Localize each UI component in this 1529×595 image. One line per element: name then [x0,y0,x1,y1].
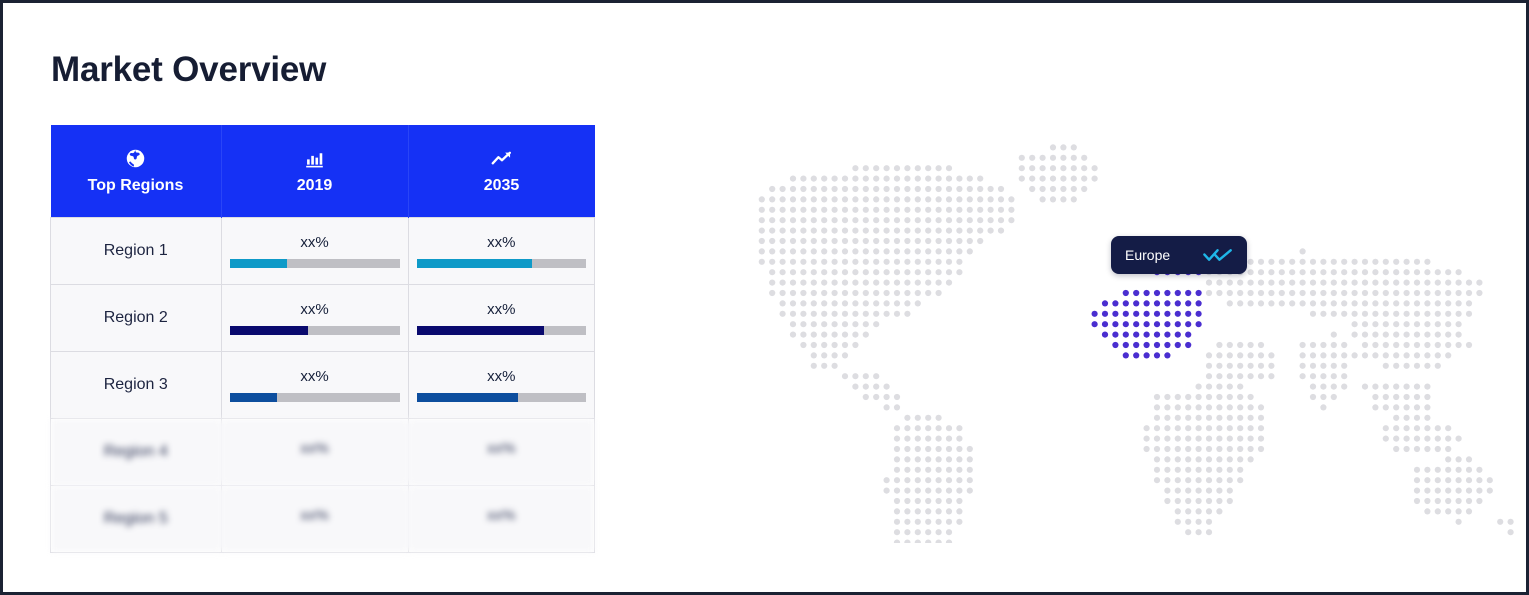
map-dot [1383,259,1389,265]
map-dot [842,332,848,338]
column-header-2035[interactable]: 2035 [408,125,595,218]
map-dot [884,217,890,223]
map-dot [1372,280,1378,286]
map-dot [925,456,931,462]
map-dot [925,248,931,254]
map-dot [1320,394,1326,400]
map-dot [1414,332,1420,338]
map-dot [1424,508,1430,514]
map-dot [1393,332,1399,338]
map-dot [1227,488,1233,494]
map-dot [1404,321,1410,327]
map-dot [1248,259,1254,265]
map-dot [904,498,910,504]
map-dot [936,467,942,473]
map-dot [1456,311,1462,317]
map-dot [873,300,879,306]
map-dot [1362,384,1368,390]
map-dot-active [1196,300,1202,306]
map-dot [904,280,910,286]
map-dot [1341,290,1347,296]
map-dot [1300,248,1306,254]
map-dot [1206,394,1212,400]
map-dot [811,186,817,192]
map-dot [832,207,838,213]
metric-value: xx% [230,301,400,318]
table-row[interactable]: Region 3xx%xx% [51,352,595,419]
map-dot [915,186,921,192]
map-dot [1456,477,1462,483]
progress-bar-track [417,259,587,268]
metric-wrapper: xx% [222,234,408,268]
map-dot [1019,155,1025,161]
map-dot [925,498,931,504]
map-dot [915,529,921,535]
map-dot-active [1175,300,1181,306]
map-dot [936,436,942,442]
map-dot [915,436,921,442]
map-dot [1445,436,1451,442]
map-dot [1414,488,1420,494]
map-dot [1341,342,1347,348]
map-dot [1331,373,1337,379]
map-dot [852,311,858,317]
map-dot [842,352,848,358]
map-dot [873,165,879,171]
map-dot [1404,394,1410,400]
map-dot [1362,342,1368,348]
map-dot [780,280,786,286]
map-dot [1029,176,1035,182]
map-dot [873,259,879,265]
map-dot [790,217,796,223]
map-dot [769,280,775,286]
map-dot [1383,269,1389,275]
map-dot [1445,477,1451,483]
map-dot [1362,321,1368,327]
map-dot [946,186,952,192]
map-dot-active [1112,342,1118,348]
map-dot [1383,342,1389,348]
map-dot [842,248,848,254]
map-dot [946,519,952,525]
map-dot [1310,269,1316,275]
map-dot [769,228,775,234]
map-dot [1227,363,1233,369]
progress-bar-fill [230,326,308,335]
map-dot [1445,498,1451,504]
map-dot [1237,384,1243,390]
map-dot [936,415,942,421]
map-dot [1300,373,1306,379]
map-dot [780,248,786,254]
map-dot [1404,332,1410,338]
map-dot-active [1164,300,1170,306]
map-dot [790,207,796,213]
map-dot [967,196,973,202]
map-dot [852,384,858,390]
map-dot [1352,352,1358,358]
map-dot [1248,425,1254,431]
map-dot [915,196,921,202]
europe-tooltip[interactable]: Europe [1111,236,1247,274]
map-dot [956,519,962,525]
map-dot [904,446,910,452]
map-dot [1237,394,1243,400]
map-dot [1237,477,1243,483]
map-dot [1185,446,1191,452]
map-dot [946,196,952,202]
map-dot [1258,446,1264,452]
map-dot [1372,300,1378,306]
map-dot [1310,342,1316,348]
map-dot [1237,436,1243,442]
map-dot-active [1154,321,1160,327]
map-dot [780,217,786,223]
map-dot [915,508,921,514]
map-dot [800,290,806,296]
map-dot [1144,425,1150,431]
map-dot [946,477,952,483]
map-dot [800,342,806,348]
map-dot [863,238,869,244]
map-dot [1071,196,1077,202]
map-dot [1435,269,1441,275]
map-dot [1372,352,1378,358]
map-dot [1331,280,1337,286]
column-header-2019[interactable]: 2019 [221,125,408,218]
map-dot [873,186,879,192]
map-dot [873,207,879,213]
map-dot [1040,155,1046,161]
map-dot [1206,529,1212,535]
map-dot [1071,165,1077,171]
map-dot [894,446,900,452]
map-dot [1248,415,1254,421]
map-dot [800,332,806,338]
map-dot [915,488,921,494]
map-dot [956,269,962,275]
column-header-top-regions[interactable]: Top Regions [51,125,222,218]
map-dot [863,196,869,202]
map-dot-active [1185,332,1191,338]
map-dot [863,311,869,317]
map-dot [863,332,869,338]
map-dot [832,280,838,286]
map-dot [800,280,806,286]
map-dot [1414,384,1420,390]
map-dot [873,311,879,317]
map-dot [977,207,983,213]
map-dot [1341,373,1347,379]
map-dot [904,228,910,234]
map-dot [915,456,921,462]
table-row[interactable]: Region 4xx%xx% [51,419,595,486]
map-dot [1331,311,1337,317]
world-dot-map[interactable]: Europe [603,123,1523,543]
map-dot [1372,394,1378,400]
map-dot [956,238,962,244]
map-dot [863,259,869,265]
map-dot [1414,436,1420,442]
map-dot [1050,155,1056,161]
map-dot [800,321,806,327]
table-row[interactable]: Region 5xx%xx% [51,486,595,553]
map-dot [1310,290,1316,296]
map-dot [915,165,921,171]
map-dot [946,529,952,535]
map-dot [1445,352,1451,358]
map-dot [946,488,952,494]
map-dot [852,217,858,223]
map-dot [1164,436,1170,442]
map-dot [894,394,900,400]
map-dot [1414,259,1420,265]
map-dot [811,269,817,275]
map-dot [1383,290,1389,296]
map-dot [894,207,900,213]
map-dot [1424,498,1430,504]
map-dot [759,259,765,265]
map-dot [936,498,942,504]
map-dot [852,238,858,244]
map-dot [1227,352,1233,358]
map-dot [915,217,921,223]
map-dot [1456,321,1462,327]
map-dot [842,290,848,296]
map-dot [1404,259,1410,265]
table-row[interactable]: Region 1xx%xx% [51,218,595,285]
map-dot [1227,342,1233,348]
map-dot [852,176,858,182]
map-dot [925,508,931,514]
map-dot [759,228,765,234]
map-dot [936,456,942,462]
map-dot [1279,269,1285,275]
map-dot [1508,529,1514,535]
map-dot [1383,436,1389,442]
metric-wrapper: xx% [222,301,408,335]
map-dot [1237,342,1243,348]
map-dot [946,176,952,182]
map-dot [946,467,952,473]
metric-value: xx% [417,440,587,457]
map-dot [1029,155,1035,161]
map-dot [1476,290,1482,296]
map-dot [1404,363,1410,369]
map-dot [1466,508,1472,514]
map-dot [1435,352,1441,358]
metric-wrapper: xx% [409,507,595,524]
map-dot [894,269,900,275]
map-dot [1268,269,1274,275]
map-dot [1237,446,1243,452]
map-dot [1424,477,1430,483]
map-dot [925,446,931,452]
map-dot [956,436,962,442]
map-dot [842,228,848,234]
map-dot [1476,477,1482,483]
map-dot-active [1154,300,1160,306]
map-dot [1352,259,1358,265]
map-dot [936,529,942,535]
map-dot [1414,290,1420,296]
map-dot [894,290,900,296]
map-dot-active [1175,332,1181,338]
map-dot [936,488,942,494]
map-dot [936,248,942,254]
map-dot [988,228,994,234]
map-dot [1445,321,1451,327]
map-dot [894,165,900,171]
map-dot [1206,519,1212,525]
map-dot [769,196,775,202]
map-dot [894,311,900,317]
map-dot [946,238,952,244]
map-dot [956,467,962,473]
map-dot [915,238,921,244]
map-dot [925,217,931,223]
map-dot [1175,436,1181,442]
map-dot [863,373,869,379]
map-dot [925,280,931,286]
map-dot [904,217,910,223]
map-dot [1383,394,1389,400]
map-dot [925,228,931,234]
map-dot [790,228,796,234]
map-dot [842,280,848,286]
map-dot [1175,404,1181,410]
map-dot [936,186,942,192]
map-dot [1424,404,1430,410]
map-dot [1248,280,1254,286]
map-dot [1040,165,1046,171]
map-dot [873,384,879,390]
map-dot [1248,269,1254,275]
table-row[interactable]: Region 2xx%xx% [51,285,595,352]
map-dot [1248,394,1254,400]
map-dot [1196,498,1202,504]
map-dot [1456,332,1462,338]
map-dot [904,508,910,514]
map-dot [1216,363,1222,369]
map-dot [1414,446,1420,452]
map-dot [1227,404,1233,410]
map-dot [1435,332,1441,338]
map-dot [1071,155,1077,161]
map-dot [1393,415,1399,421]
map-dot [1445,425,1451,431]
map-dot [1206,280,1212,286]
map-dot [1466,300,1472,306]
table-body: Region 1xx%xx%Region 2xx%xx%Region 3xx%x… [51,218,595,553]
map-dot [894,280,900,286]
map-dot [1040,176,1046,182]
map-dot-active [1196,321,1202,327]
map-dot [1414,467,1420,473]
map-dot [1487,477,1493,483]
map-dot [800,176,806,182]
map-dot [1237,467,1243,473]
map-dot [1341,352,1347,358]
map-dot-active [1175,311,1181,317]
map-dot [925,519,931,525]
map-dot [1216,404,1222,410]
map-dot [936,446,942,452]
map-dot [1424,467,1430,473]
map-dot [1435,436,1441,442]
map-dot [915,259,921,265]
map-dot [1424,446,1430,452]
map-dot [1227,300,1233,306]
map-dot [1237,280,1243,286]
map-dot [1206,477,1212,483]
map-dot [1040,186,1046,192]
map-dot-active [1185,300,1191,306]
map-dot [790,332,796,338]
map-dot [1248,404,1254,410]
metric-value: xx% [417,301,587,318]
map-dot [894,196,900,202]
metric-value: xx% [417,507,587,524]
map-dot [1300,342,1306,348]
map-dot [925,436,931,442]
map-dot [1175,498,1181,504]
map-dot-active [1144,342,1150,348]
map-dot [1227,425,1233,431]
map-dot [1175,425,1181,431]
dot-map-svg [603,123,1523,543]
map-dot [956,217,962,223]
map-dot [1445,488,1451,494]
map-dot [1175,508,1181,514]
bar-chart-icon [222,147,408,171]
metric-wrapper: xx% [222,440,408,457]
metric-value: xx% [230,440,400,457]
metric-cell: xx% [408,352,595,419]
map-dot [1352,332,1358,338]
map-dot [925,477,931,483]
map-dot [1175,488,1181,494]
map-dot [977,217,983,223]
column-header-label: 2019 [222,176,408,196]
map-dot [769,290,775,296]
map-dot [1216,425,1222,431]
map-dot-active [1164,311,1170,317]
map-dot [925,415,931,421]
map-dot [800,228,806,234]
map-dot-active [1164,352,1170,358]
map-dot [1445,280,1451,286]
map-dot [1320,259,1326,265]
map-dot [1435,508,1441,514]
map-dot [1341,280,1347,286]
map-dot [884,248,890,254]
map-dot [790,300,796,306]
map-dot [1404,415,1410,421]
map-dot [1372,404,1378,410]
map-dot [915,269,921,275]
map-dot [1331,300,1337,306]
map-dot [967,207,973,213]
map-dot [1144,446,1150,452]
map-dot [863,176,869,182]
map-dot [1185,498,1191,504]
map-dot [1300,300,1306,306]
map-dot-active [1196,311,1202,317]
map-dot [1393,436,1399,442]
map-dot [769,238,775,244]
